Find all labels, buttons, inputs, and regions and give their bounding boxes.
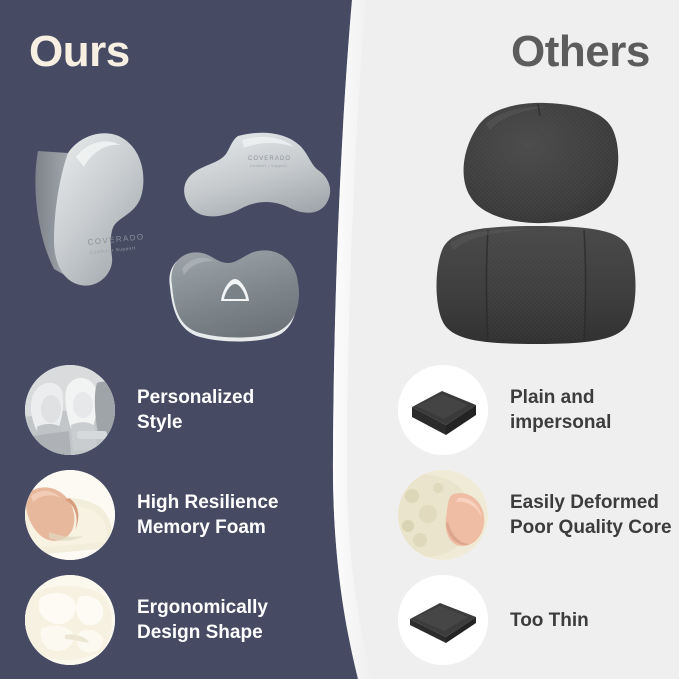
feature-row-ergonomic-shape: Ergonomically Design Shape (25, 575, 268, 665)
comparison-infographic: Ours Others COVERADO (0, 0, 679, 679)
product-seat-cushion (148, 235, 328, 345)
feature-label: Ergonomically Design Shape (137, 595, 268, 645)
feature-label: Too Thin (510, 608, 589, 633)
feature-label: Easily Deformed Poor Quality Core (510, 490, 672, 540)
feature-label: Plain and impersonal (510, 385, 611, 435)
hand-pressing-cheap-foam-photo-icon (398, 470, 488, 560)
ours-title: Ours (29, 30, 130, 74)
molded-foam-core-photo-icon (25, 575, 115, 665)
feature-row-easily-deformed: Easily Deformed Poor Quality Core (398, 470, 672, 560)
feature-row-memory-foam: High Resilience Memory Foam (25, 470, 279, 560)
product-brand-sublabel-2: Comfort • Support (250, 164, 287, 168)
other-headrest-pillow (450, 100, 630, 225)
car-seat-set-photo-icon (25, 365, 115, 455)
feature-row-plain-impersonal: Plain and impersonal (398, 365, 611, 455)
feature-label: High Resilience Memory Foam (137, 490, 279, 540)
product-brand-label-2: COVERADO (248, 156, 291, 162)
product-back-support-pillow: COVERADO Comfort • Support (178, 130, 338, 235)
other-lumbar-pillow (428, 222, 643, 347)
feature-row-personalized-style: Personalized Style (25, 365, 254, 455)
thin-black-cushion-photo-icon (398, 575, 488, 665)
feature-row-too-thin: Too Thin (398, 575, 589, 665)
others-title: Others (511, 30, 650, 74)
feature-label: Personalized Style (137, 385, 254, 435)
flat-black-cushion-photo-icon (398, 365, 488, 455)
hand-pressing-foam-photo-icon (25, 470, 115, 560)
